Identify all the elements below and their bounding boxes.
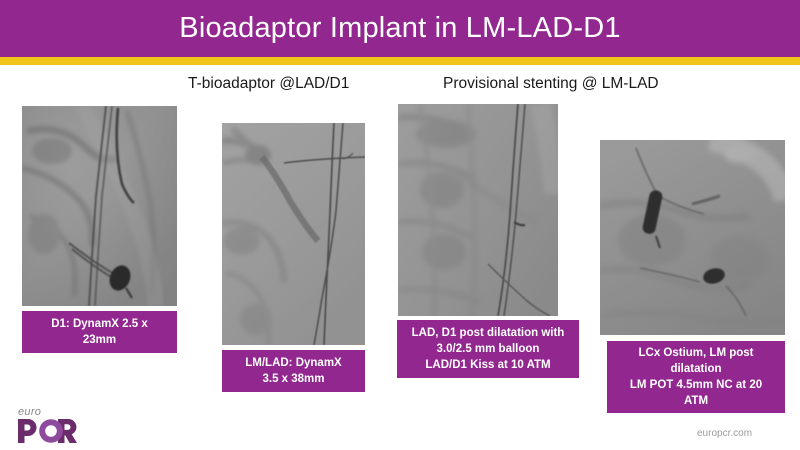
caption-line: 23mm — [28, 332, 171, 348]
angiogram-image-2 — [222, 123, 365, 345]
section-heading-left: T-bioadaptor @LAD/D1 — [188, 75, 349, 93]
caption-line: LAD/D1 Kiss at 10 ATM — [403, 357, 573, 373]
angiogram-image-4 — [600, 140, 785, 335]
section-heading-right: Provisional stenting @ LM-LAD — [443, 75, 659, 93]
caption-panel-3: LAD, D1 post dilatation with 3.0/2.5 mm … — [397, 320, 579, 378]
angiogram-image-1 — [22, 106, 177, 306]
caption-line: ATM — [613, 393, 779, 409]
caption-panel-4: LCx Ostium, LM post dilatation LM POT 4.… — [607, 341, 785, 413]
angiogram-image-3 — [398, 104, 558, 316]
europcr-logo: euro — [18, 406, 98, 446]
logo-euro-text: euro — [18, 406, 98, 418]
gold-accent-bar — [0, 57, 800, 65]
logo-pcr-mark — [18, 418, 82, 444]
caption-line: 3.5 x 38mm — [228, 371, 359, 387]
caption-line: dilatation — [613, 361, 779, 377]
title-band: Bioadaptor Implant in LM-LAD-D1 — [0, 0, 800, 57]
caption-panel-1: D1: DynamX 2.5 x 23mm — [22, 311, 177, 353]
caption-line: LAD, D1 post dilatation with — [403, 325, 573, 341]
caption-line: LM/LAD: DynamX — [228, 355, 359, 371]
caption-line: LCx Ostium, LM post — [613, 345, 779, 361]
website-url: europcr.com — [697, 428, 752, 439]
page-title: Bioadaptor Implant in LM-LAD-D1 — [179, 12, 620, 45]
caption-panel-2: LM/LAD: DynamX 3.5 x 38mm — [222, 350, 365, 392]
caption-line: LM POT 4.5mm NC at 20 — [613, 377, 779, 393]
caption-line: 3.0/2.5 mm balloon — [403, 341, 573, 357]
caption-line: D1: DynamX 2.5 x — [28, 316, 171, 332]
